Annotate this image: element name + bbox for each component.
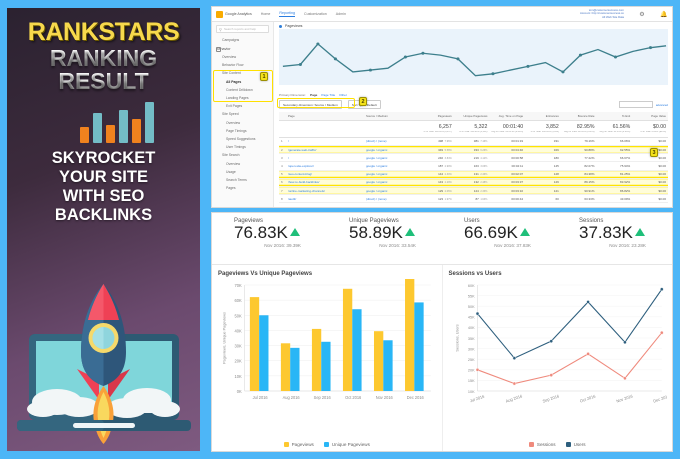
charts-strip: Pageviews Vs Unique Pageviews 0K10K20K30…: [212, 265, 672, 451]
summary-avg-time: 00:01:40: [489, 121, 525, 132]
line-chart-svg: 10K15K20K25K30K35K40K45K50K55K60KSession…: [449, 279, 668, 417]
trend-up-icon: [405, 228, 415, 236]
cell-pageviews: 1231.97%: [418, 195, 454, 203]
sidebar-item-pages[interactable]: Pages: [212, 185, 273, 193]
cell-idx: 2: [279, 146, 286, 154]
cell-entrances: 331: [525, 137, 561, 145]
col-source-medium[interactable]: Source / Medium: [364, 112, 418, 121]
promo-line-4: BACKLINKS: [7, 206, 200, 225]
line-ytick: 45K: [467, 314, 474, 319]
cell-source-medium[interactable]: google / organic: [364, 162, 418, 170]
cell-page-link[interactable]: /online-marketing-channels/: [286, 186, 364, 194]
bar-xtick: Jul 2016: [253, 395, 269, 400]
kpi-value-unique-pageviews: 58.89K: [349, 224, 442, 242]
cell-entrances: 180: [525, 154, 561, 162]
cell-exit-pct: 81.25%: [597, 170, 633, 178]
line-ytick: 40K: [467, 325, 474, 330]
trend-up-icon: [635, 228, 645, 236]
table-row[interactable]: 6/how-to-build-backlinks/google / organi…: [279, 178, 668, 186]
ga-trend-line-chart: [279, 29, 668, 85]
cell-entrances: 60: [525, 195, 561, 203]
kpi-card-pageviews: Pageviews76.83KNov 2016: 39.39K: [212, 218, 327, 264]
cell-pageviews: 1442.30%: [418, 170, 454, 178]
cell-avg-time: 00:04:40: [489, 146, 525, 154]
promo-headline-2: RESULT: [7, 70, 200, 94]
point-sessions-2: [549, 374, 552, 377]
kpi-comparison-pageviews: Nov 2016: 39.39K: [234, 243, 327, 248]
point-sessions-3: [586, 352, 589, 355]
bar-unique-pageviews-4: [383, 340, 392, 391]
sidebar-item-label: Site Search: [222, 153, 240, 157]
cell-exit-pct: 66.67%: [597, 154, 633, 162]
cell-exit-pct: 75.94%: [597, 162, 633, 170]
col-exit-pct[interactable]: % Exit: [597, 112, 633, 121]
sidebar-item-site-speed[interactable]: Site Speed: [212, 111, 273, 119]
screenshot-root: RANKSTARS RANKING RESULT SKYROCKET YOUR …: [0, 0, 680, 459]
legend-swatch-unique-pageviews: [324, 442, 329, 447]
sidebar-item-content-drilldown[interactable]: Content Drilldown: [212, 86, 273, 94]
kpi-comparison-unique-pageviews: Nov 2016: 33.54K: [349, 243, 442, 248]
ga-account-selector[interactable]: tom@customersuccess.com Account: http://…: [580, 9, 624, 19]
cell-pct: 2.29%: [445, 181, 452, 184]
cell-exit-pct: 43.09%: [597, 195, 633, 203]
cell-exit-pct: 83.92%: [597, 178, 633, 186]
table-row[interactable]: 7/online-marketing-channels/google / org…: [279, 186, 668, 194]
sidebar-item-label: Search Terms: [226, 178, 247, 182]
cell-pct: 6.26%: [480, 149, 487, 152]
promo-bar-chart-icon: [7, 99, 200, 143]
cell-pct: 2.30%: [445, 173, 452, 176]
sidebar-item-overview[interactable]: Overview: [212, 54, 273, 62]
line-ytick: 25K: [467, 357, 474, 362]
cell-unique-pageviews: 1242.33%: [454, 186, 490, 194]
kpi-comparison-users: Nov 2016: 37.83K: [464, 243, 557, 248]
legend-swatch-pageviews: [284, 442, 289, 447]
sidebar-item-label: Campaigns: [222, 38, 239, 42]
cell-page-link[interactable]: /: [286, 137, 364, 145]
line-ytick: 35K: [467, 336, 474, 341]
line-ytick: 55K: [467, 293, 474, 298]
bar-ytick: 10K: [234, 374, 241, 379]
analytics-logo-label: Google Analytics: [225, 12, 252, 16]
promo-text-block: RANKSTARS RANKING RESULT: [7, 8, 200, 94]
ga-table-search: advanced: [619, 101, 668, 108]
bar-unique-pageviews-1: [290, 348, 299, 391]
sidebar-item-behavior[interactable]: Behavior: [212, 45, 273, 53]
cell-avg-time: 00:01:19: [489, 137, 525, 145]
legend-label-users: Users: [574, 442, 586, 447]
line-ytick: 30K: [467, 346, 474, 351]
line-ylabel: Sessions, Users: [455, 324, 459, 351]
bar-ytick: 20K: [234, 359, 241, 364]
cell-page-link[interactable]: /seo-content-blog/: [286, 170, 364, 178]
bar-xtick: Aug 2016: [283, 395, 301, 400]
sidebar-item-label: All Pages: [226, 80, 241, 84]
point-users-3: [586, 300, 589, 303]
cell-pct: 7.16%: [480, 140, 487, 143]
metric-dot-icon: [279, 25, 282, 28]
sidebar-item-landing-pages[interactable]: Landing Pages: [212, 95, 273, 103]
sidebar-item-user-timings[interactable]: User Timings: [212, 144, 273, 152]
ga-secondary-dimension-row: Secondary dimension: Source / Medium Sor…: [279, 100, 668, 109]
sidebar-item-label: Overview: [226, 121, 240, 125]
bar-xtick: Dec 2016: [407, 395, 425, 400]
summary-unique-pageviews: 5,322: [454, 121, 490, 132]
col-page[interactable]: Page: [286, 112, 364, 121]
google-analytics-logo[interactable]: Google Analytics: [216, 11, 252, 18]
cell-pct: 3.84%: [445, 157, 452, 160]
promo-bar-6: [145, 102, 154, 143]
cell-bounce-rate: 79.16%: [561, 137, 597, 145]
col-page-value[interactable]: Page Value: [632, 112, 668, 121]
cell-page-link[interactable]: /: [286, 154, 364, 162]
line-chart-legend: Sessions Users: [443, 442, 673, 447]
cell-source-medium[interactable]: (direct) / (none): [364, 137, 418, 145]
bar-ylabel: Pageviews, Unique Pageviews: [223, 312, 227, 364]
summary-pageviews: 6,257: [418, 121, 454, 132]
trend-up-icon: [290, 228, 300, 236]
bar-pageviews-2: [312, 329, 321, 391]
kpi-number-unique-pageviews: 58.89K: [349, 224, 403, 242]
line-chart-title: Sessions vs Users: [449, 271, 668, 277]
sidebar-item-search-terms[interactable]: Search Terms: [212, 176, 273, 184]
bar-chart-legend: Pageviews Unique Pageviews: [212, 442, 442, 447]
sidebar-item-label: Site Speed: [222, 112, 239, 116]
legend-swatch-users: [566, 442, 571, 447]
sidebar-item-label: Exit Pages: [226, 104, 242, 108]
ga-chart-metric-label[interactable]: Pageviews: [285, 24, 302, 28]
cell-page-value: $0.00: [632, 170, 668, 178]
point-sessions-4: [623, 377, 626, 380]
sidebar-item-speed-suggestions[interactable]: Speed Suggestions: [212, 136, 273, 144]
ga-chart-header: Pageviews: [279, 24, 668, 28]
bar-ytick: 70K: [234, 283, 241, 288]
point-users-1: [512, 357, 515, 360]
bar-pageviews-3: [343, 289, 352, 391]
legend-swatch-sessions: [529, 442, 534, 447]
sidebar-item-label: Pages: [226, 186, 236, 190]
bar-unique-pageviews-5: [414, 302, 423, 391]
bar-unique-pageviews-2: [321, 342, 330, 391]
legend-label-unique-pageviews: Unique Pageviews: [332, 442, 370, 447]
table-row[interactable]: 3/google / organic2403.84%2194.12%00:00:…: [279, 154, 668, 162]
cell-idx: 5: [279, 170, 286, 178]
ga-main-content: Pageviews: [274, 22, 672, 208]
line-ytick: 60K: [467, 283, 474, 288]
kpi-number-pageviews: 76.83K: [234, 224, 288, 242]
cell-entrances: 121: [525, 186, 561, 194]
cell-page-value: $0.00: [632, 162, 668, 170]
dashboard-window: Pageviews76.83KNov 2016: 39.39KUnique Pa…: [211, 212, 673, 452]
bar-ytick: 40K: [234, 328, 241, 333]
cell-page-value: $0.00: [632, 137, 668, 145]
sidebar-item-label: Content Drilldown: [226, 88, 253, 92]
bar-pageviews-1: [281, 343, 290, 391]
cell-source-medium[interactable]: (direct) / (none): [364, 195, 418, 203]
ga-summary-row: 6,257 5,322 00:01:40 3,852 82.95% 61.56%…: [279, 121, 668, 132]
promo-bar-2: [93, 113, 102, 143]
dimension-option-page[interactable]: Page: [310, 93, 317, 97]
cell-pct: 1.97%: [445, 198, 452, 201]
sidebar-item-usage[interactable]: Usage: [212, 168, 273, 176]
bar-pageviews-0: [250, 297, 259, 391]
promo-line-2: YOUR SITE: [7, 168, 200, 187]
bar-xtick: Oct 2016: [345, 395, 362, 400]
legend-item-pageviews[interactable]: Pageviews: [284, 442, 314, 447]
sidebar-item-overview[interactable]: Overview: [212, 160, 273, 168]
sessions-users-line-chart-card: Sessions vs Users 10K15K20K25K30K35K40K4…: [443, 265, 673, 451]
cell-page-link[interactable]: /audit/: [286, 195, 364, 203]
cell-avg-time: 00:00:44: [489, 195, 525, 203]
cell-page-link[interactable]: /how-to-build-backlinks/: [286, 178, 364, 186]
table-row[interactable]: 2/generate-web-traffic/google / organic3…: [279, 146, 668, 154]
callout-badge-2: 2: [359, 97, 367, 106]
cell-pct: 1.63%: [480, 198, 487, 201]
sidebar-item-label: Overview: [226, 162, 240, 166]
line-ytick: 50K: [467, 304, 474, 309]
cell-unique-pageviews: 2194.12%: [454, 154, 490, 162]
sidebar-item-label: Site Content: [222, 71, 241, 75]
cell-avg-time: 00:00:58: [489, 154, 525, 162]
bar-unique-pageviews-3: [352, 309, 361, 391]
bar-unique-pageviews-0: [259, 315, 268, 391]
cell-bounce-rate: 84.38%: [561, 170, 597, 178]
summary-page-value: $0.00: [632, 121, 668, 132]
cell-pct: 2.33%: [480, 190, 487, 193]
legend-item-unique-pageviews[interactable]: Unique Pageviews: [324, 442, 370, 447]
cell-entrances: 145: [525, 162, 561, 170]
promo-bar-5: [132, 119, 141, 143]
cell-source-medium[interactable]: google / organic: [364, 170, 418, 178]
cell-unique-pageviews: 1322.48%: [454, 178, 490, 186]
bar-chart-title: Pageviews Vs Unique Pageviews: [218, 271, 437, 277]
sidebar-item-campaigns[interactable]: Campaigns: [212, 37, 273, 45]
sidebar-item-label: Landing Pages: [226, 96, 249, 100]
promo-line-1: SKYROCKET: [7, 149, 200, 168]
cell-bounce-rate: 89.15%: [561, 178, 597, 186]
analytics-panel: Google Analytics Home Reporting Customiz…: [207, 0, 680, 459]
cell-avg-time: 00:02:11: [489, 162, 525, 170]
cell-pct: 3.06%: [480, 165, 487, 168]
bar-xtick: Nov 2016: [376, 395, 394, 400]
bar-ytick: 50K: [234, 313, 241, 318]
cell-page-link[interactable]: /open-site-explorer/: [286, 162, 364, 170]
advanced-search-link[interactable]: advanced: [656, 103, 668, 107]
ga-body: ⚲ Search reports and help CampaignsBehav…: [212, 22, 672, 208]
ga-sidebar-list: CampaignsBehaviorOverviewBehavior FlowSi…: [212, 37, 273, 193]
cell-pct: 7.96%: [445, 140, 452, 143]
trend-up-icon: [520, 228, 530, 236]
cell-source-medium[interactable]: google / organic: [364, 178, 418, 186]
kpi-number-users: 66.69K: [464, 224, 518, 242]
cell-pct: 2.46%: [480, 173, 487, 176]
cell-source-medium[interactable]: google / organic: [364, 186, 418, 194]
cell-pageviews: 2403.84%: [418, 154, 454, 162]
ga-search-input[interactable]: ⚲ Search reports and help: [216, 25, 269, 33]
cell-bounce-rate: 90.88%: [561, 146, 597, 154]
point-users-0: [475, 312, 478, 315]
legend-item-sessions[interactable]: Sessions: [529, 442, 556, 447]
table-row[interactable]: 1/(direct) / (none)4987.96%3817.16%00:01…: [279, 137, 668, 145]
kpi-number-sessions: 37.83K: [579, 224, 633, 242]
promo-panel-inner: RANKSTARS RANKING RESULT SKYROCKET YOUR …: [7, 8, 200, 451]
table-search-input[interactable]: [619, 101, 653, 108]
sidebar-item-label: Page Timings: [226, 129, 247, 133]
kpi-comparison-sessions: Nov 2016: 23.28K: [579, 243, 672, 248]
kpi-card-sessions: Sessions37.83KNov 2016: 23.28K: [557, 218, 672, 264]
legend-label-sessions: Sessions: [537, 442, 556, 447]
promo-bar-3: [106, 125, 115, 143]
cell-entrances: 128: [525, 170, 561, 178]
kpi-value-sessions: 37.83K: [579, 224, 672, 242]
dimension-option-other[interactable]: Other: [339, 93, 347, 97]
ga-table-header-row: Page Source / Medium Pageviews Unique Pa…: [279, 112, 668, 121]
sidebar-item-overview[interactable]: Overview: [212, 119, 273, 127]
cell-idx: 7: [279, 186, 286, 194]
sidebar-item-site-search[interactable]: Site Search: [212, 152, 273, 160]
behavior-icon: [216, 47, 221, 52]
callout-badge-3: 3: [650, 148, 658, 157]
sidebar-item-page-timings[interactable]: Page Timings: [212, 127, 273, 135]
ga-nav-admin[interactable]: Admin: [336, 12, 346, 16]
col-pageviews[interactable]: Pageviews: [418, 112, 454, 121]
line-ytick: 20K: [467, 367, 474, 372]
point-users-5: [660, 288, 663, 291]
cell-unique-pageviews: 1633.06%: [454, 162, 490, 170]
cell-pct: 2.06%: [445, 190, 452, 193]
line-ytick: 10K: [467, 389, 474, 394]
cell-idx: 3: [279, 154, 286, 162]
promo-bar-1: [80, 127, 89, 143]
cell-page-value: $0.00: [632, 195, 668, 203]
ga-table-body: 1/(direct) / (none)4987.96%3817.16%00:01…: [279, 137, 668, 203]
col-avg-time[interactable]: Avg. Time on Page: [489, 112, 525, 121]
sidebar-item-label: User Timings: [226, 145, 246, 149]
ga-search-placeholder: Search reports and help: [224, 27, 256, 31]
primary-dimension-label: Primary Dimension:: [279, 93, 306, 97]
bar-pageviews-5: [405, 279, 414, 391]
point-users-4: [623, 341, 626, 344]
cell-page-value: $0.00: [632, 186, 668, 194]
summary-bounce-rate: 82.95%: [561, 121, 597, 132]
analytics-logo-icon: [216, 11, 223, 18]
cell-bounce-rate: 90.91%: [561, 186, 597, 194]
sidebar-item-behavior-flow[interactable]: Behavior Flow: [212, 62, 273, 70]
cell-idx: 1: [279, 137, 286, 145]
notifications-icon[interactable]: 🔔: [660, 10, 668, 18]
kpi-value-users: 66.69K: [464, 224, 557, 242]
cell-exit-pct: 66.06%: [597, 137, 633, 145]
secondary-dimension-select[interactable]: Secondary dimension: Source / Medium: [279, 100, 342, 109]
line-ytick: 15K: [467, 378, 474, 383]
bar-xtick: Sep 2016: [314, 395, 332, 400]
sidebar-item-exit-pages[interactable]: Exit Pages: [212, 103, 273, 111]
cell-avg-time: 00:03:37: [489, 178, 525, 186]
cell-source-medium[interactable]: google / organic: [364, 154, 418, 162]
ga-top-navbar: Google Analytics Home Reporting Customiz…: [212, 7, 672, 22]
point-sessions-1: [512, 382, 515, 385]
google-analytics-window: Google Analytics Home Reporting Customiz…: [211, 6, 673, 208]
cell-unique-pageviews: 3817.16%: [454, 137, 490, 145]
col-index: [279, 112, 286, 121]
promo-bar-4: [119, 110, 128, 143]
cell-pageviews: 4987.96%: [418, 137, 454, 145]
cell-source-medium[interactable]: google / organic: [364, 146, 418, 154]
cell-page-value: $0.00: [632, 178, 668, 186]
point-users-2: [549, 340, 552, 343]
promo-line-3: WITH SEO: [7, 187, 200, 206]
col-unique-pageviews[interactable]: Unique Pageviews: [454, 112, 490, 121]
col-bounce-rate[interactable]: Bounce Rate: [561, 112, 597, 121]
cell-page-link[interactable]: /generate-web-traffic/: [286, 146, 364, 154]
bar-pageviews-4: [374, 331, 383, 391]
bar-chart-svg: 0K10K20K30K40K50K60K70KPageviews, Unique…: [218, 279, 437, 417]
promo-panel: RANKSTARS RANKING RESULT SKYROCKET YOUR …: [0, 0, 207, 459]
legend-label-pageviews: Pageviews: [292, 442, 314, 447]
cell-bounce-rate: 77.22%: [561, 154, 597, 162]
cell-idx: 4: [279, 162, 286, 170]
ga-sidebar: ⚲ Search reports and help CampaignsBehav…: [212, 22, 274, 208]
bar-ytick: 60K: [234, 298, 241, 303]
cell-unique-pageviews: 871.63%: [454, 195, 490, 203]
brand-title: RANKSTARS: [7, 18, 200, 47]
cell-bounce-rate: 63.33%: [561, 195, 597, 203]
cell-pageviews: 1292.06%: [418, 186, 454, 194]
promo-subtext: SKYROCKET YOUR SITE WITH SEO BACKLINKS: [7, 149, 200, 226]
cell-unique-pageviews: 1312.46%: [454, 170, 490, 178]
point-sessions-5: [660, 331, 663, 334]
cell-pct: 5.58%: [445, 149, 452, 152]
cell-idx: 6: [279, 178, 286, 186]
kpi-card-users: Users66.69KNov 2016: 37.83K: [442, 218, 557, 264]
cell-pct: 2.48%: [480, 181, 487, 184]
kpi-strip: Pageviews76.83KNov 2016: 39.39KUnique Pa…: [212, 213, 672, 265]
sidebar-item-label: Behavior Flow: [222, 63, 243, 67]
col-entrances[interactable]: Entrances: [525, 112, 561, 121]
cell-exit-pct: 92.55%: [597, 146, 633, 154]
cell-exit-pct: 86.82%: [597, 186, 633, 194]
dimension-option-page-title[interactable]: Page Title: [321, 93, 335, 97]
ga-pages-table: Page Source / Medium Pageviews Unique Pa…: [279, 112, 668, 203]
cell-entrances: 129: [525, 178, 561, 186]
kpi-card-unique-pageviews: Unique Pageviews58.89KNov 2016: 33.54K: [327, 218, 442, 264]
sidebar-item-label: Speed Suggestions: [226, 137, 255, 141]
sidebar-item-label: Usage: [226, 170, 236, 174]
ga-account-view: All Web Site Data: [580, 16, 624, 19]
table-row[interactable]: 5/seo-content-blog/google / organic1442.…: [279, 170, 668, 178]
rocket-laptop-illustration: [7, 276, 200, 451]
kpi-value-pageviews: 76.83K: [234, 224, 327, 242]
cell-idx: 8: [279, 195, 286, 203]
cell-pageviews: 1432.29%: [418, 178, 454, 186]
table-row[interactable]: 4/open-site-explorer/google / organic187…: [279, 162, 668, 170]
ga-nav-reporting[interactable]: Reporting: [279, 11, 295, 17]
cell-bounce-rate: 82.07%: [561, 162, 597, 170]
cell-pct: 2.99%: [445, 165, 452, 168]
gear-icon[interactable]: ⚙: [638, 10, 646, 18]
ga-nav-home[interactable]: Home: [261, 12, 271, 16]
bar-ytick: 0K: [237, 389, 242, 394]
summary-entrances: 3,852: [525, 121, 561, 132]
cell-pageviews: 3495.58%: [418, 146, 454, 154]
table-row[interactable]: 8/audit/(direct) / (none)1231.97%871.63%…: [279, 195, 668, 203]
legend-item-users[interactable]: Users: [566, 442, 586, 447]
cell-avg-time: 00:02:07: [489, 170, 525, 178]
ga-nav-customization[interactable]: Customization: [304, 12, 327, 16]
cell-unique-pageviews: 3336.26%: [454, 146, 490, 154]
ga-primary-dimension-row: Primary Dimension: Page Page Title Other: [279, 93, 668, 97]
pageviews-bar-chart-card: Pageviews Vs Unique Pageviews 0K10K20K30…: [212, 265, 443, 451]
